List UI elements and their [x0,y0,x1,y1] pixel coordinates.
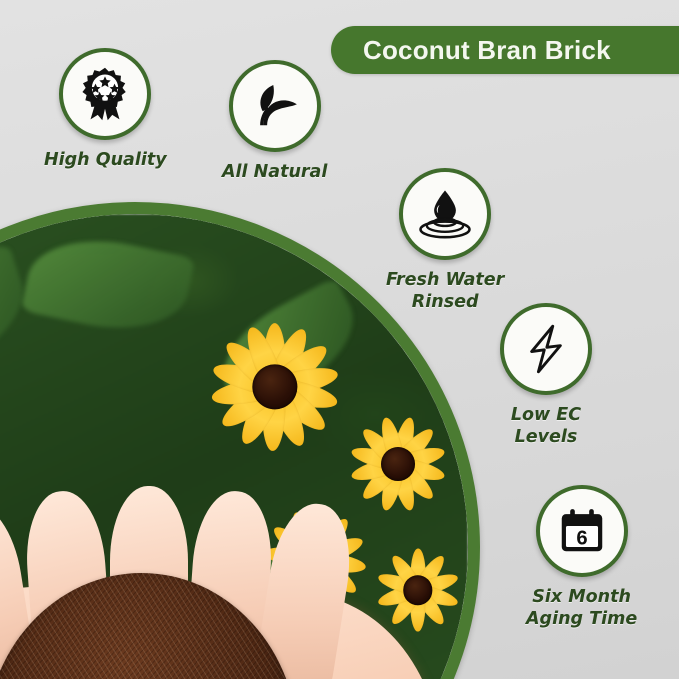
feature-low-ec-levels[interactable]: Low EC Levels [500,303,592,449]
feature-label: All Natural [222,161,327,183]
feature-label: Six Month Aging Time [526,586,637,631]
flower [348,414,448,514]
page-title: Coconut Bran Brick [331,35,611,66]
feature-all-natural[interactable]: All Natural [222,60,327,183]
feature-label: High Quality [44,149,167,171]
calendar-icon: 6 [536,485,628,577]
infographic-canvas: Coconut Bran Brick High Quality [0,0,679,679]
flower [208,321,341,454]
feature-fresh-water-rinsed[interactable]: Fresh Water Rinsed [386,168,504,314]
calendar-day-number: 6 [576,528,587,550]
feature-label: Fresh Water Rinsed [386,269,504,314]
feature-six-month-aging[interactable]: 6 Six Month Aging Time [526,485,637,631]
leaves-icon [229,60,321,152]
water-droplet-icon [399,168,491,260]
lightning-bolt-icon [500,303,592,395]
award-rosette-icon [59,48,151,140]
feature-label: Low EC Levels [511,404,581,449]
hands-holding-coir [0,507,448,679]
flower-disc [381,447,415,481]
title-banner: Coconut Bran Brick [331,26,679,74]
feature-high-quality[interactable]: High Quality [44,48,167,171]
